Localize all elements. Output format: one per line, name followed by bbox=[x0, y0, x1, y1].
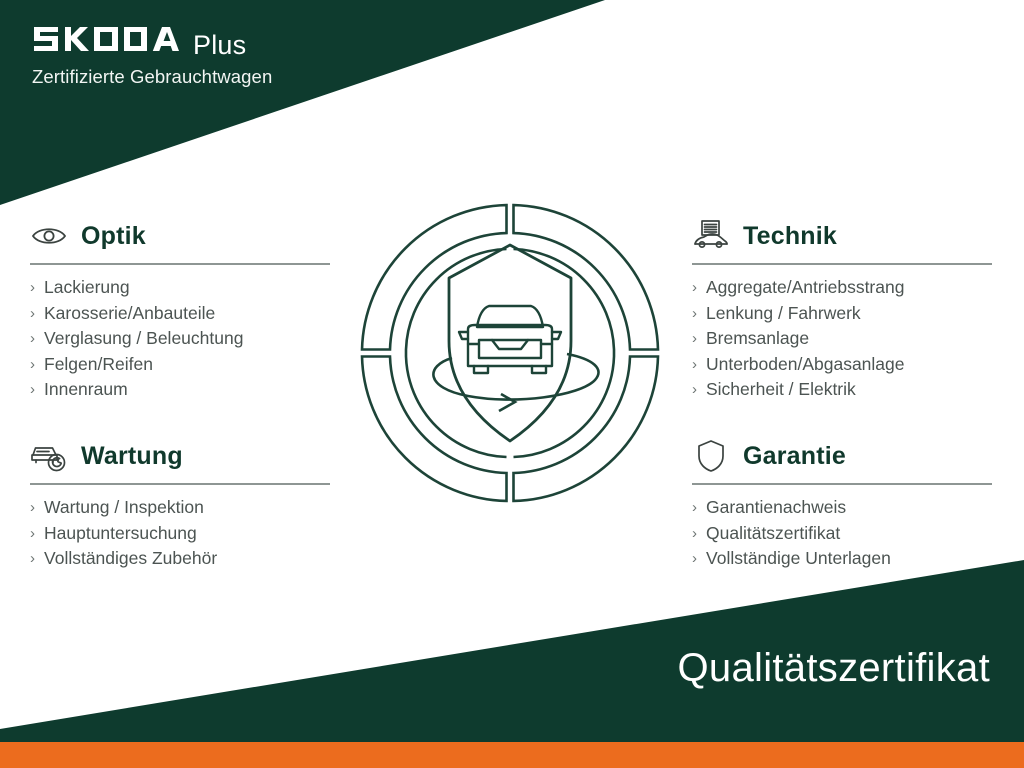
brand-logo-row: Plus bbox=[32, 24, 272, 59]
list-item-label: Vollständige Unterlagen bbox=[706, 548, 891, 568]
section-garantie-list: ›Garantienachweis ›Qualitätszertifikat ›… bbox=[692, 495, 1007, 572]
list-item: ›Sicherheit / Elektrik bbox=[692, 377, 1007, 403]
chevron-right-icon: › bbox=[692, 326, 697, 352]
chevron-right-icon: › bbox=[30, 275, 35, 301]
brand-plus-label: Plus bbox=[193, 32, 246, 59]
list-item-label: Garantienachweis bbox=[706, 497, 846, 517]
chevron-right-icon: › bbox=[30, 495, 35, 521]
list-item: ›Aggregate/Antriebsstrang bbox=[692, 275, 1007, 301]
chevron-right-icon: › bbox=[30, 521, 35, 547]
list-item-label: Felgen/Reifen bbox=[44, 354, 153, 374]
list-item-label: Qualitätszertifikat bbox=[706, 523, 840, 543]
certificate-page: Plus Zertifizierte Gebrauchtwagen Optik … bbox=[0, 0, 1024, 768]
section-garantie-divider bbox=[692, 483, 992, 485]
list-item-label: Sicherheit / Elektrik bbox=[706, 379, 856, 399]
list-item: ›Vollständiges Zubehör bbox=[30, 546, 345, 572]
section-garantie: Garantie ›Garantienachweis ›Qualitätszer… bbox=[692, 436, 1007, 572]
section-wartung: Wartung ›Wartung / Inspektion ›Hauptunte… bbox=[30, 436, 345, 572]
skoda-wordmark-icon bbox=[32, 24, 184, 54]
list-item-label: Bremsanlage bbox=[706, 328, 809, 348]
chevron-right-icon: › bbox=[30, 326, 35, 352]
section-technik-header: Technik bbox=[692, 216, 1007, 256]
list-item: ›Wartung / Inspektion bbox=[30, 495, 345, 521]
list-item-label: Aggregate/Antriebsstrang bbox=[706, 277, 904, 297]
page-title: Qualitätszertifikat bbox=[678, 648, 990, 688]
list-item-label: Unterboden/Abgasanlage bbox=[706, 354, 905, 374]
car-service-record-icon bbox=[692, 219, 730, 253]
list-item: ›Qualitätszertifikat bbox=[692, 521, 1007, 547]
car-wrench-icon bbox=[30, 439, 68, 473]
section-wartung-title: Wartung bbox=[81, 444, 183, 469]
eye-icon bbox=[30, 219, 68, 253]
section-technik-title: Technik bbox=[743, 224, 837, 249]
list-item: ›Hauptuntersuchung bbox=[30, 521, 345, 547]
section-optik-title: Optik bbox=[81, 224, 146, 249]
chevron-right-icon: › bbox=[692, 301, 697, 327]
list-item: ›Verglasung / Beleuchtung bbox=[30, 326, 345, 352]
list-item-label: Lackierung bbox=[44, 277, 130, 297]
section-optik-divider bbox=[30, 263, 330, 265]
list-item: ›Lenkung / Fahrwerk bbox=[692, 301, 1007, 327]
list-item: ›Vollständige Unterlagen bbox=[692, 546, 1007, 572]
list-item-label: Wartung / Inspektion bbox=[44, 497, 204, 517]
chevron-right-icon: › bbox=[30, 377, 35, 403]
section-optik: Optik ›Lackierung ›Karosserie/Anbauteile… bbox=[30, 216, 345, 403]
list-item-label: Hauptuntersuchung bbox=[44, 523, 197, 543]
list-item: ›Bremsanlage bbox=[692, 326, 1007, 352]
chevron-right-icon: › bbox=[30, 352, 35, 378]
list-item-label: Vollständiges Zubehör bbox=[44, 548, 217, 568]
list-item: ›Karosserie/Anbauteile bbox=[30, 301, 345, 327]
brand-logo: Plus Zertifizierte Gebrauchtwagen bbox=[32, 24, 272, 88]
section-optik-header: Optik bbox=[30, 216, 345, 256]
shield-icon bbox=[692, 439, 730, 473]
chevron-right-icon: › bbox=[30, 546, 35, 572]
section-technik-list: ›Aggregate/Antriebsstrang ›Lenkung / Fah… bbox=[692, 275, 1007, 403]
list-item-label: Lenkung / Fahrwerk bbox=[706, 303, 861, 323]
shielded-car-ring-emblem bbox=[355, 198, 665, 508]
list-item-label: Innenraum bbox=[44, 379, 128, 399]
section-garantie-title: Garantie bbox=[743, 444, 846, 469]
brand-tagline: Zertifizierte Gebrauchtwagen bbox=[32, 66, 272, 88]
section-wartung-divider bbox=[30, 483, 330, 485]
chevron-right-icon: › bbox=[692, 495, 697, 521]
chevron-right-icon: › bbox=[692, 352, 697, 378]
section-wartung-list: ›Wartung / Inspektion ›Hauptuntersuchung… bbox=[30, 495, 345, 572]
list-item: ›Felgen/Reifen bbox=[30, 352, 345, 378]
list-item-label: Verglasung / Beleuchtung bbox=[44, 328, 243, 348]
chevron-right-icon: › bbox=[692, 275, 697, 301]
chevron-right-icon: › bbox=[692, 521, 697, 547]
chevron-right-icon: › bbox=[30, 301, 35, 327]
section-technik: Technik ›Aggregate/Antriebsstrang ›Lenku… bbox=[692, 216, 1007, 403]
chevron-right-icon: › bbox=[692, 377, 697, 403]
section-technik-divider bbox=[692, 263, 992, 265]
section-garantie-header: Garantie bbox=[692, 436, 1007, 476]
list-item: ›Lackierung bbox=[30, 275, 345, 301]
orange-bottom-bar bbox=[0, 742, 1024, 768]
section-optik-list: ›Lackierung ›Karosserie/Anbauteile ›Verg… bbox=[30, 275, 345, 403]
list-item: ›Innenraum bbox=[30, 377, 345, 403]
section-wartung-header: Wartung bbox=[30, 436, 345, 476]
list-item: ›Unterboden/Abgasanlage bbox=[692, 352, 1007, 378]
chevron-right-icon: › bbox=[692, 546, 697, 572]
list-item: ›Garantienachweis bbox=[692, 495, 1007, 521]
list-item-label: Karosserie/Anbauteile bbox=[44, 303, 215, 323]
